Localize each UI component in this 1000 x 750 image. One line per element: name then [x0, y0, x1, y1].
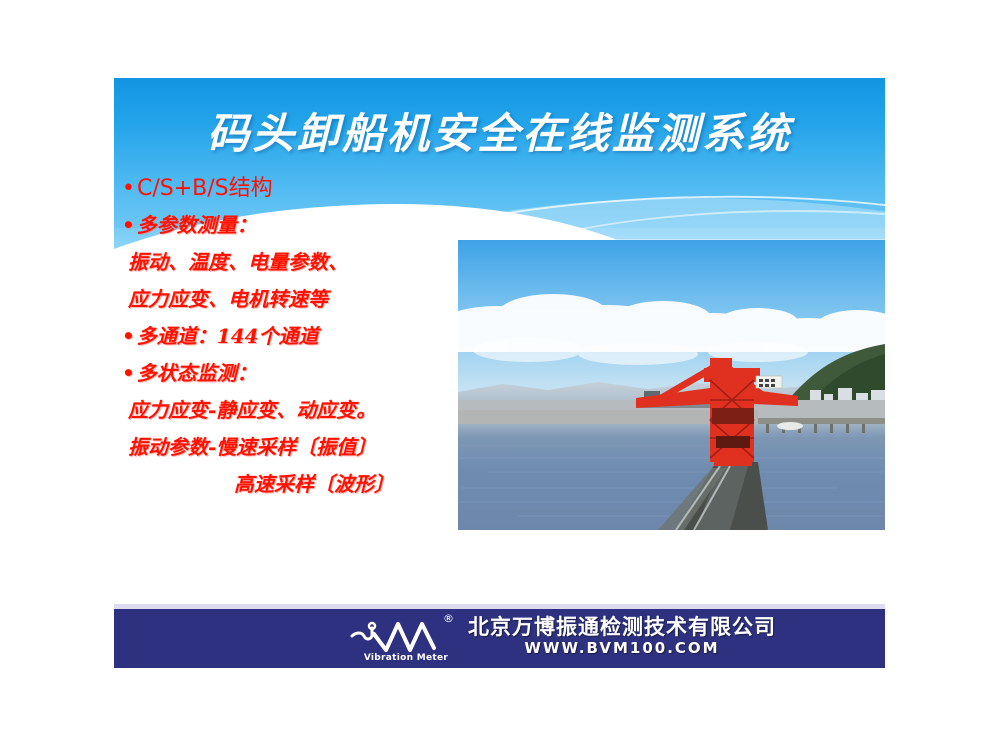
list-item-label: 高速采样〔波形〕: [234, 472, 394, 496]
vibration-meter-logo-icon: ® Vibration Meter: [346, 612, 458, 662]
list-item: •多状态监测：: [122, 355, 482, 392]
registered-trademark-icon: ®: [443, 612, 454, 625]
list-item: •多通道：144个通道: [122, 318, 482, 355]
list-item: 振动、温度、电量参数、: [122, 244, 482, 281]
bullet-marker: •: [122, 318, 135, 355]
list-item: 应力应变、电机转速等: [122, 281, 482, 318]
list-item: 应力应变-静应变、动应变。: [122, 392, 482, 429]
harbor-photo: [458, 240, 885, 530]
list-item-label: 多状态监测：: [137, 361, 257, 385]
list-item-label: 多通道：144个通道: [137, 324, 319, 348]
list-item-label: 多参数测量：: [137, 213, 257, 237]
footer-text-block: 北京万博振通检测技术有限公司 WWW.BVM100.COM: [468, 615, 776, 660]
list-item-label: 应力应变-静应变、动应变。: [128, 398, 376, 422]
footer-bar: ® Vibration Meter 北京万博振通检测技术有限公司 WWW.BVM…: [114, 609, 885, 668]
company-name: 北京万博振通检测技术有限公司: [468, 615, 776, 639]
list-item: 振动参数-慢速采样〔振值〕: [122, 429, 482, 466]
list-item: •C/S+B/S结构: [122, 170, 482, 207]
bullet-list: •C/S+B/S结构 •多参数测量： 振动、温度、电量参数、 应力应变、电机转速…: [122, 170, 482, 503]
logo-subtitle: Vibration Meter: [354, 653, 458, 663]
list-item-label: 应力应变、电机转速等: [128, 287, 328, 311]
slide-canvas: 码头卸船机安全在线监测系统 •C/S+B/S结构 •多参数测量： 振动、温度、电…: [114, 78, 885, 680]
list-item: 高速采样〔波形〕: [122, 466, 482, 503]
page-title: 码头卸船机安全在线监测系统: [114, 100, 885, 161]
list-item-label: 振动参数-慢速采样〔振值〕: [128, 435, 376, 459]
bullet-marker: •: [122, 207, 135, 244]
bullet-marker: •: [122, 170, 135, 207]
bullet-marker: •: [122, 355, 135, 392]
list-item: •多参数测量：: [122, 207, 482, 244]
list-item-label: C/S+B/S结构: [137, 176, 273, 201]
list-item-label: 振动、温度、电量参数、: [128, 250, 348, 274]
footer-content: ® Vibration Meter 北京万博振通检测技术有限公司 WWW.BVM…: [346, 612, 776, 662]
company-website[interactable]: WWW.BVM100.COM: [468, 639, 776, 658]
